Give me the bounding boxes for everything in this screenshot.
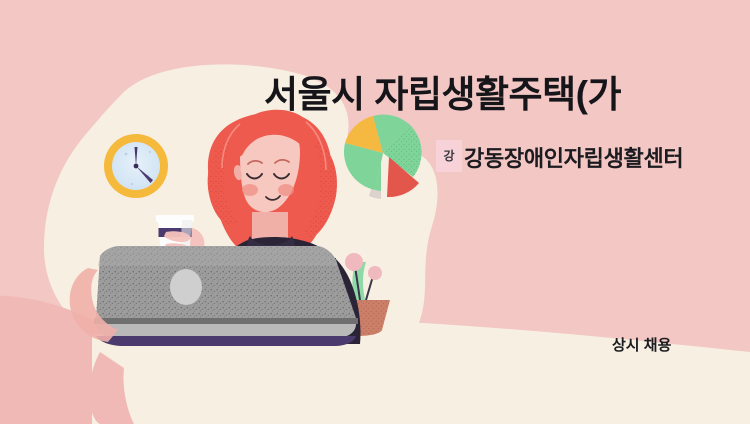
- laptop-base: [96, 324, 356, 338]
- clock-speck: [125, 153, 128, 156]
- laptop: [94, 246, 358, 346]
- cheek-left: [242, 184, 258, 196]
- laptop-base-shadow: [96, 336, 356, 346]
- laptop-logo: [170, 269, 202, 305]
- organization-badge-label: 강: [443, 150, 454, 162]
- flower-bloom: [368, 266, 382, 280]
- page-title: 서울시 자립생활주택(가: [264, 72, 621, 118]
- wall-clock: [104, 134, 168, 198]
- cheek-right: [278, 184, 294, 196]
- flower-bloom: [345, 253, 363, 271]
- clock-center-pin: [134, 164, 139, 169]
- organization-name: 강동장애인자립생활센터: [464, 144, 683, 174]
- illustration-artwork: [0, 0, 750, 424]
- organization-badge: 강: [436, 140, 462, 172]
- poster-canvas: 서울시 자립생활주택(가 강 강동장애인자립생활센터 상시 채용: [0, 0, 750, 424]
- laptop-lid-edge: [98, 246, 338, 266]
- laptop-hinge: [94, 318, 358, 324]
- recruitment-status: 상시 채용: [612, 334, 671, 355]
- clock-speck: [131, 183, 133, 185]
- clock-speck: [149, 151, 151, 153]
